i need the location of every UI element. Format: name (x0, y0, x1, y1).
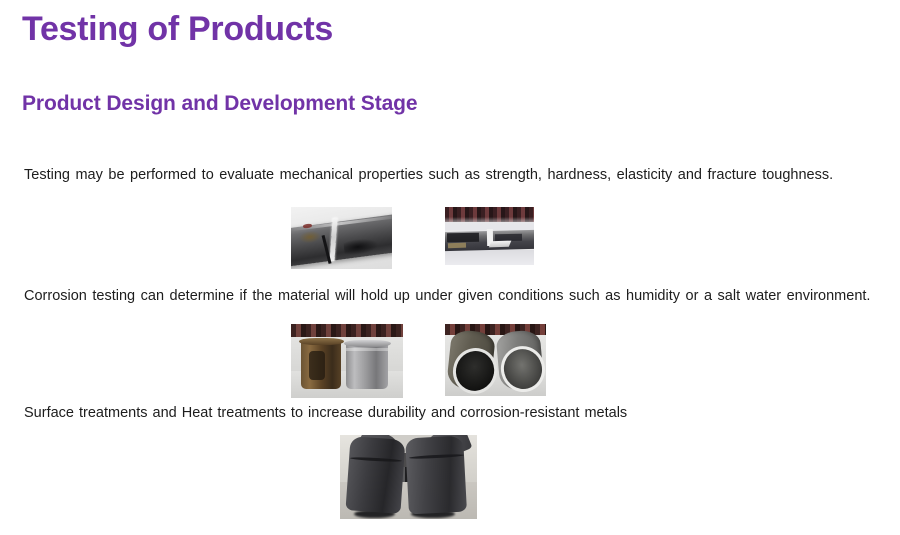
galvanized-cylinder-rim (344, 340, 391, 347)
table-surface (445, 250, 534, 265)
figure-treated-elbow-pipes (340, 435, 477, 519)
tan-region (448, 243, 466, 249)
dark-region-left (447, 233, 479, 243)
figure-notched-bar-specimen (445, 207, 534, 265)
paragraph-corrosion-testing: Corrosion testing can determine if the m… (24, 286, 874, 306)
figure-corroded-vs-clean-cylinders (291, 324, 403, 398)
rusted-cylinder-rim (299, 338, 344, 345)
figure-cracked-pipe-closeup (291, 207, 392, 269)
galvanized-highlight (346, 348, 389, 351)
rust-stain (298, 229, 322, 244)
page-subtitle: Product Design and Development Stage (22, 92, 417, 116)
paragraph-mechanical-properties: Testing may be performed to evaluate mec… (24, 165, 870, 185)
rust-dark-patch (309, 351, 325, 381)
paragraph-surface-heat-treatments: Surface treatments and Heat treatments t… (24, 403, 874, 423)
elbow-pipe-left (346, 437, 406, 515)
slide-canvas: Testing of Products Product Design and D… (0, 0, 900, 535)
bright-wedge (488, 240, 510, 247)
figure-tube-sections-interior (445, 324, 546, 396)
elbow-pipe-right (405, 435, 466, 514)
page-title: Testing of Products (22, 10, 333, 49)
